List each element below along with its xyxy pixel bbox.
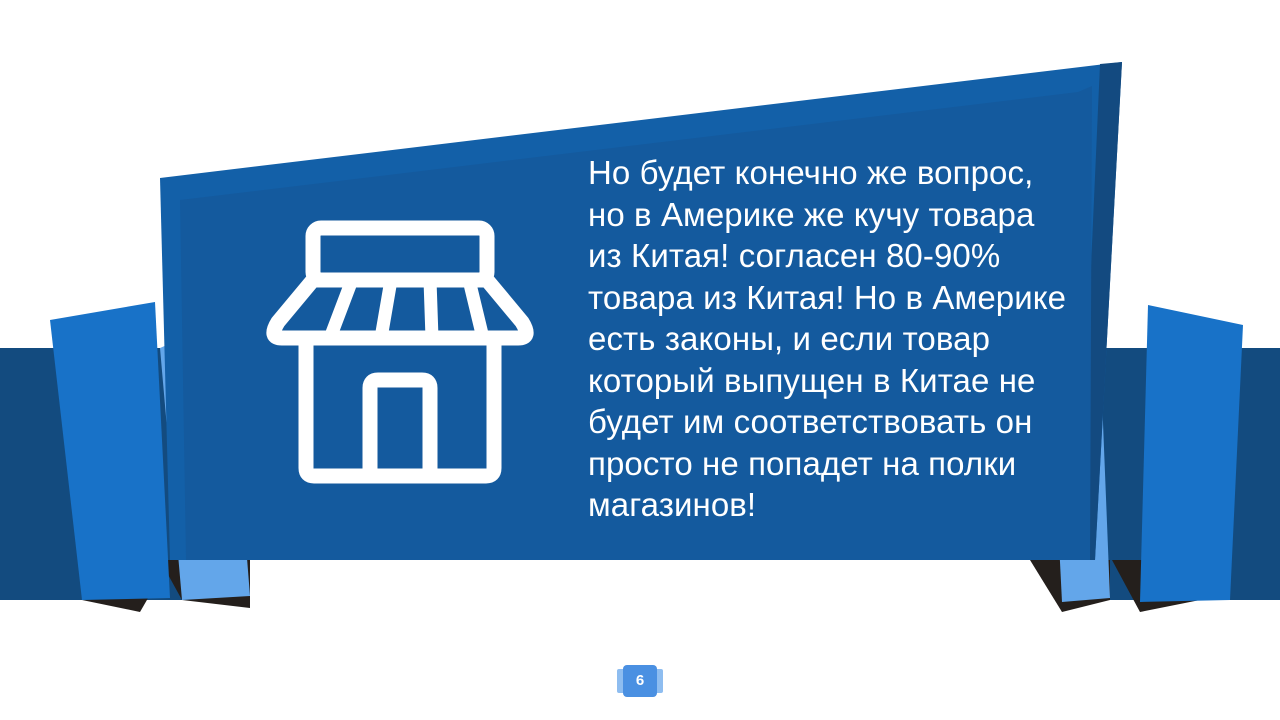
ribbon-right-blue bbox=[1140, 305, 1243, 602]
slide-body-text: Но будет конечно же вопрос, но в Америке… bbox=[588, 152, 1084, 526]
page-number-badge: 6 bbox=[617, 665, 663, 697]
slide-canvas: Но будет конечно же вопрос, но в Америке… bbox=[0, 0, 1280, 720]
page-number-label: 6 bbox=[636, 665, 644, 697]
